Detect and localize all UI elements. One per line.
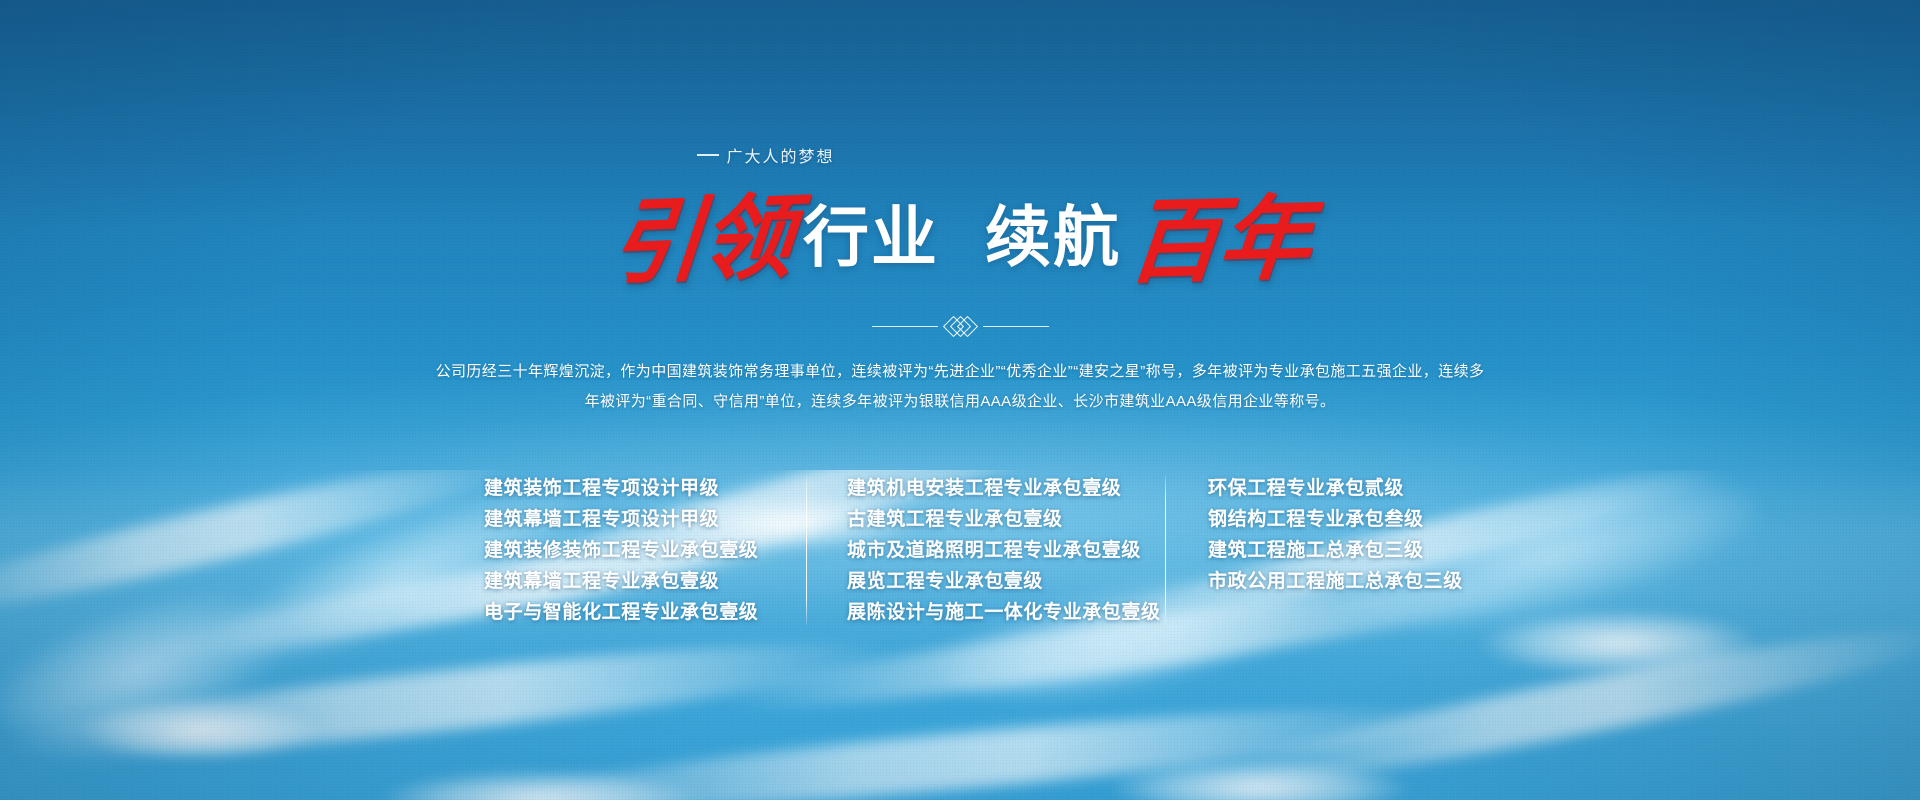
qualification-item: 建筑工程施工总承包三级 [1208,535,1436,566]
qualification-item: 建筑幕墙工程专项设计甲级 [484,504,784,535]
qualification-column-1: 建筑装饰工程专项设计甲级 建筑幕墙工程专项设计甲级 建筑装修装饰工程专业承包壹级… [484,473,784,628]
tagline: 广大人的梦想 [697,143,834,167]
qualification-item: 钢结构工程专业承包叁级 [1208,504,1436,535]
qualification-item: 展陈设计与施工一体化专业承包壹级 [847,597,1137,628]
divider-line-right [983,326,1049,328]
diamond-divider [872,319,1049,334]
banner-content: 广大人的梦想 引领 行业 续航 百年 公司历经三十年辉煌沉淀，作为中国建筑装饰常… [0,0,1920,800]
headline: 引领 行业 续航 百年 [609,181,1311,299]
headline-brush-left: 引领 [605,191,798,290]
qualification-item: 城市及道路照明工程专业承包壹级 [847,535,1137,566]
qualification-item: 建筑装饰工程专项设计甲级 [484,473,784,504]
hero-banner: 广大人的梦想 引领 行业 续航 百年 公司历经三十年辉煌沉淀，作为中国建筑装饰常… [0,0,1920,800]
headline-brush-right: 百年 [1122,192,1316,288]
qualification-item: 环保工程专业承包贰级 [1208,473,1436,504]
divider-line-left [872,326,938,328]
qualification-column-2: 建筑机电安装工程专业承包壹级 古建筑工程专业承包壹级 城市及道路照明工程专业承包… [807,473,1137,628]
diamond-icon-group [950,319,971,334]
qualification-item: 建筑装修装饰工程专业承包壹级 [484,535,784,566]
qualification-list: 建筑装饰工程专项设计甲级 建筑幕墙工程专项设计甲级 建筑装修装饰工程专业承包壹级… [484,473,1436,628]
headline-solid-left: 行业 [803,204,939,276]
company-description: 公司历经三十年辉煌沉淀，作为中国建筑装饰常务理事单位，连续被评为“先进企业”“优… [430,357,1490,417]
qualification-item: 古建筑工程专业承包壹级 [847,504,1137,535]
qualification-item: 市政公用工程施工总承包三级 [1208,566,1436,597]
qualification-item: 建筑机电安装工程专业承包壹级 [847,473,1137,504]
tagline-dash-icon [697,154,719,156]
qualification-item: 电子与智能化工程专业承包壹级 [484,597,784,628]
qualification-column-3: 环保工程专业承包贰级 钢结构工程专业承包叁级 建筑工程施工总承包三级 市政公用工… [1166,473,1436,597]
headline-solid-right: 续航 [985,204,1121,276]
qualification-item: 展览工程专业承包壹级 [847,566,1137,597]
qualification-item: 建筑幕墙工程专业承包壹级 [484,566,784,597]
tagline-text: 广大人的梦想 [726,143,834,167]
